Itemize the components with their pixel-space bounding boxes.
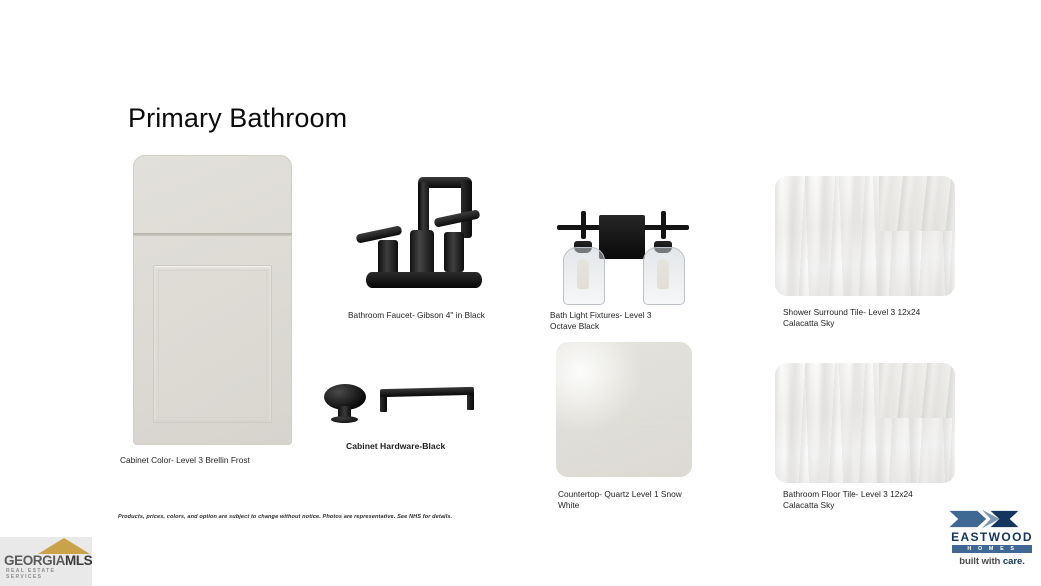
faucet-valve-right [444,232,464,272]
eastwood-tagline: built with care. [946,556,1038,567]
selection-sheet: Primary Bathroom Cabinet Color- Level 3 … [0,0,1041,586]
faucet-handle-right [434,209,481,227]
light-glass-shade-left [563,247,605,305]
tile-vein-accent [879,363,955,418]
cabinet-color-caption: Cabinet Color- Level 3 Brellin Frost [120,455,330,466]
faucet-body [410,230,434,278]
light-glass-shade-right [643,247,685,305]
bathroom-faucet-image [358,172,488,292]
eastwood-wordmark: EASTWOOD [946,531,1038,544]
eastwood-homes-logo: EASTWOOD H O M E S built with care. [946,508,1038,570]
tagline-accent: care [1003,556,1022,567]
cabinet-hardware-image [322,382,482,432]
georgia-mls-logo: GEORGIAMLS REAL ESTATE SERVICES [0,537,92,586]
light-arm-left [581,211,586,239]
tile-vein-accent [879,176,955,231]
cabinet-pull-bar [380,387,474,397]
mls-wordmark: GEORGIAMLS [4,553,92,568]
cabinet-recessed-panel [153,265,272,423]
bathroom-faucet-caption: Bathroom Faucet- Gibson 4" in Black [348,310,548,321]
eastwood-homes-subtitle: H O M E S [952,545,1032,553]
mls-name-secondary: MLS [65,553,92,568]
mls-subtitle: REAL ESTATE SERVICES [6,568,92,580]
faucet-escutcheon [366,272,482,288]
cabinet-knob-base [331,416,358,423]
mls-name-primary: GEORGIA [4,553,65,568]
cabinet-color-swatch [133,155,292,445]
countertop-swatch [556,342,692,477]
cabinet-hardware-caption: Cabinet Hardware-Black [346,441,546,452]
tagline-suffix: . [1022,556,1025,567]
disclaimer-text: Products, prices, colors, and option are… [118,514,452,520]
bathroom-floor-tile-swatch [775,363,955,483]
faucet-spout-outlet [461,180,472,238]
mls-roof-icon [38,538,90,554]
shower-surround-tile-swatch [775,176,955,296]
bathroom-floor-tile-caption: Bathroom Floor Tile- Level 3 12x24 Calac… [783,489,1003,510]
page-title: Primary Bathroom [128,103,347,134]
light-arm-right [661,211,666,239]
cabinet-drawer-seam [133,233,292,236]
shower-surround-tile-caption: Shower Surround Tile- Level 3 12x24 Cala… [783,307,1003,328]
bath-light-fixture-image [549,203,697,301]
countertop-caption: Countertop- Quartz Level 1 Snow White [558,489,758,510]
bath-light-fixtures-caption: Bath Light Fixtures- Level 3 Octave Blac… [550,310,750,331]
eastwood-emblem-icon [948,508,1036,530]
tagline-prefix: built with [959,556,1003,567]
light-backplate [599,215,645,259]
